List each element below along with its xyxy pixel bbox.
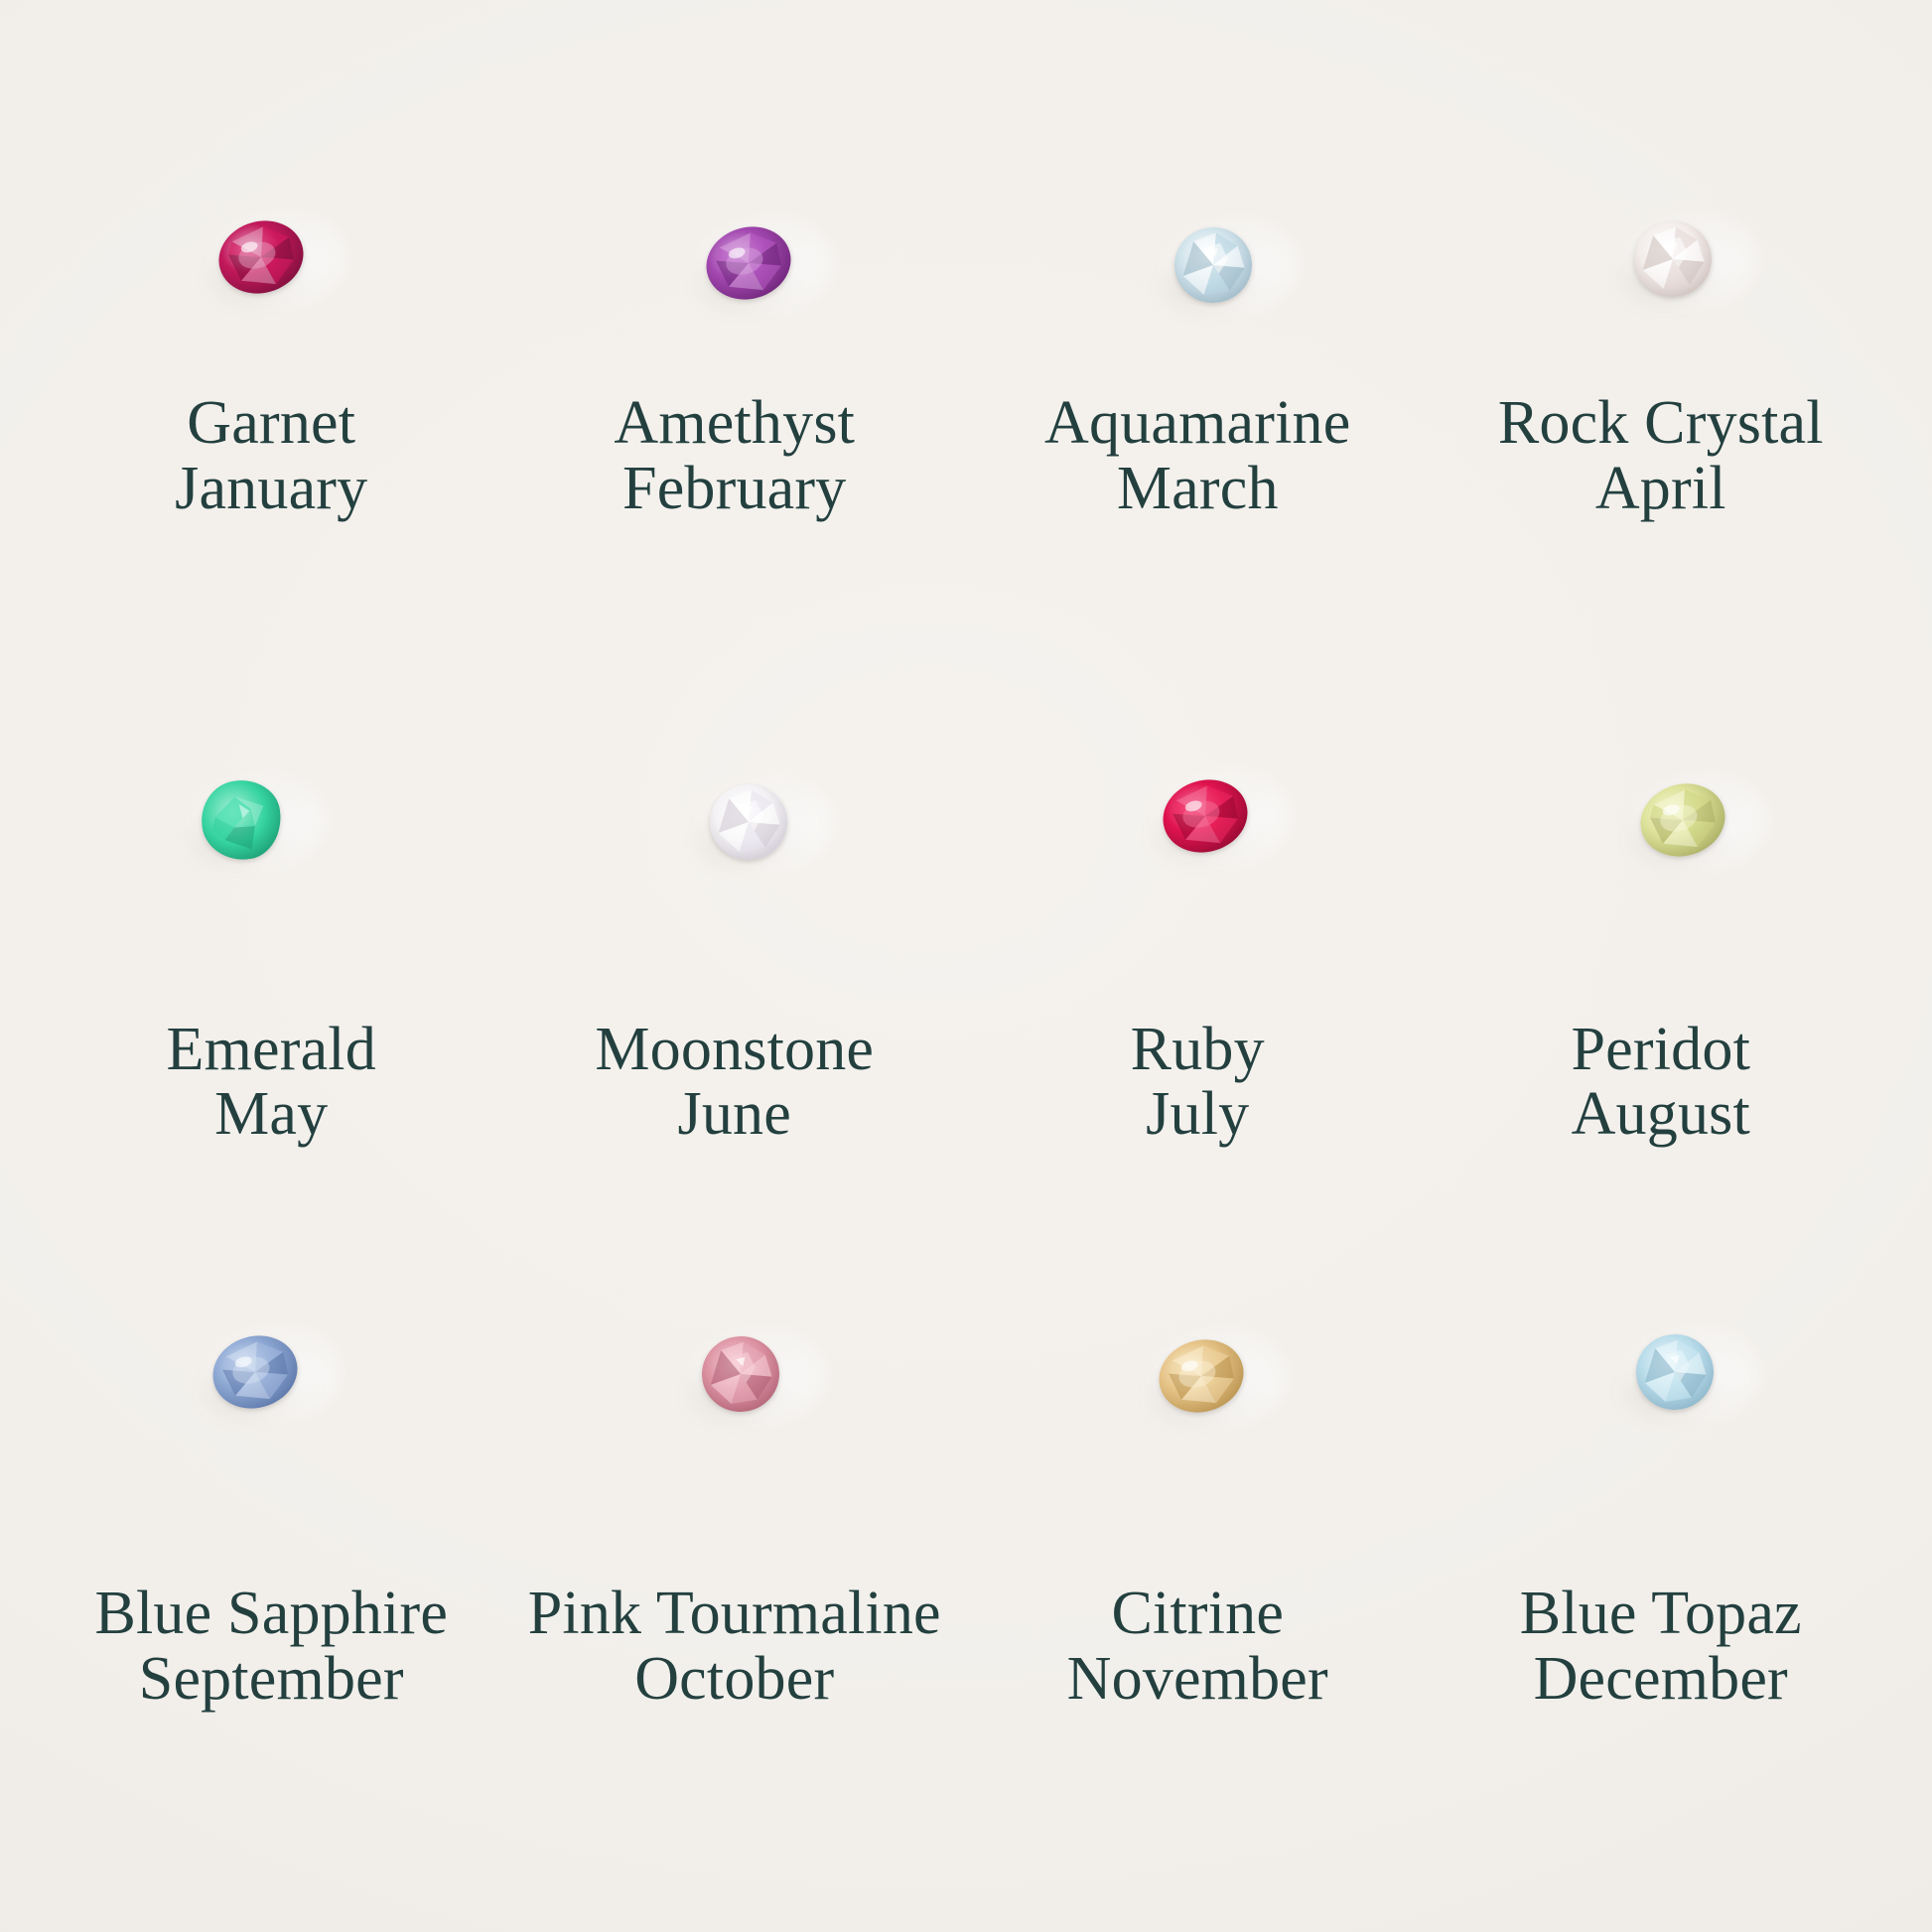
birthstone-card[interactable]: PeridotAugust bbox=[1430, 704, 1893, 1259]
birthstone-caption: Rock CrystalApril bbox=[1492, 391, 1830, 521]
gem-wrapper bbox=[681, 1314, 800, 1434]
birthstone-chart-page: GarnetJanuary AmethystFebruary bbox=[0, 0, 1932, 1932]
gem-wrapper bbox=[202, 198, 321, 317]
birthstone-grid: GarnetJanuary AmethystFebruary bbox=[0, 0, 1932, 1932]
birthstone-card[interactable]: Blue TopazDecember bbox=[1430, 1258, 1893, 1813]
birthstone-card[interactable]: RubyJuly bbox=[966, 704, 1430, 1259]
birthstone-caption: Pink TourmalineOctober bbox=[522, 1582, 947, 1712]
birthstone-card[interactable]: Blue SapphireSeptember bbox=[40, 1258, 503, 1813]
birthstone-card[interactable]: MoonstoneJune bbox=[503, 704, 967, 1259]
birthstone-caption: CitrineNovember bbox=[1061, 1582, 1334, 1712]
gem-slot bbox=[503, 704, 967, 932]
gem-wrapper bbox=[182, 760, 301, 880]
birthstone-card[interactable]: GarnetJanuary bbox=[40, 149, 503, 704]
birthstone-card[interactable]: CitrineNovember bbox=[966, 1258, 1430, 1813]
birthstone-card[interactable]: Rock CrystalApril bbox=[1430, 149, 1893, 704]
birthstone-caption: PeridotAugust bbox=[1566, 1018, 1757, 1148]
birthstone-caption: AmethystFebruary bbox=[608, 391, 861, 521]
gem-month: September bbox=[94, 1647, 448, 1713]
birthstone-caption: MoonstoneJune bbox=[589, 1018, 880, 1148]
birthstone-caption: RubyJuly bbox=[1125, 1018, 1271, 1148]
gem-name: Aquamarine bbox=[1044, 391, 1350, 457]
gem-month: February bbox=[614, 457, 855, 522]
gem-slot bbox=[966, 1258, 1430, 1486]
gem-wrapper bbox=[1142, 1316, 1261, 1436]
gem-wrapper bbox=[1154, 206, 1273, 325]
gem-name: Amethyst bbox=[614, 391, 855, 457]
gem-name: Blue Sapphire bbox=[94, 1582, 448, 1647]
gem-slot bbox=[503, 149, 967, 377]
gem-month: October bbox=[528, 1647, 941, 1713]
gem-slot bbox=[40, 1258, 503, 1486]
gem-month: May bbox=[167, 1082, 376, 1148]
gem-slot bbox=[40, 149, 503, 377]
gem-month: August bbox=[1572, 1082, 1751, 1148]
gem-wrapper bbox=[689, 762, 808, 882]
gem-name: Peridot bbox=[1572, 1018, 1751, 1083]
birthstone-card[interactable]: Pink TourmalineOctober bbox=[503, 1258, 967, 1813]
gem-slot bbox=[1430, 704, 1893, 932]
birthstone-caption: Blue TopazDecember bbox=[1514, 1582, 1808, 1712]
gem-name: Ruby bbox=[1131, 1018, 1265, 1083]
gem-wrapper bbox=[1615, 1312, 1734, 1432]
gem-name: Pink Tourmaline bbox=[528, 1582, 941, 1647]
gem-name: Emerald bbox=[167, 1018, 376, 1083]
birthstone-card[interactable]: AmethystFebruary bbox=[503, 149, 967, 704]
birthstone-caption: GarnetJanuary bbox=[169, 391, 373, 521]
gem-name: Moonstone bbox=[595, 1018, 874, 1083]
birthstone-card[interactable]: EmeraldMay bbox=[40, 704, 503, 1259]
gem-slot bbox=[503, 1258, 967, 1486]
gem-slot bbox=[1430, 149, 1893, 377]
birthstone-caption: EmeraldMay bbox=[161, 1018, 382, 1148]
gem-wrapper bbox=[1623, 760, 1742, 880]
birthstone-caption: AquamarineMarch bbox=[1038, 391, 1356, 521]
gem-wrapper bbox=[1613, 200, 1732, 319]
gem-wrapper bbox=[689, 204, 808, 323]
gem-month: July bbox=[1131, 1082, 1265, 1148]
gem-month: December bbox=[1520, 1647, 1802, 1713]
gem-month: January bbox=[175, 457, 367, 522]
gem-slot bbox=[966, 149, 1430, 377]
gem-slot bbox=[966, 704, 1430, 932]
gem-wrapper bbox=[1146, 757, 1265, 876]
gem-wrapper bbox=[196, 1312, 315, 1432]
gem-slot bbox=[1430, 1258, 1893, 1486]
birthstone-caption: Blue SapphireSeptember bbox=[88, 1582, 454, 1712]
gem-name: Rock Crystal bbox=[1498, 391, 1824, 457]
birthstone-card[interactable]: AquamarineMarch bbox=[966, 149, 1430, 704]
gem-name: Citrine bbox=[1067, 1582, 1328, 1647]
gem-name: Garnet bbox=[175, 391, 367, 457]
gem-name: Blue Topaz bbox=[1520, 1582, 1802, 1647]
gem-month: June bbox=[595, 1082, 874, 1148]
gem-slot bbox=[40, 704, 503, 932]
gem-month: March bbox=[1044, 457, 1350, 522]
gem-month: November bbox=[1067, 1647, 1328, 1713]
gem-month: April bbox=[1498, 457, 1824, 522]
